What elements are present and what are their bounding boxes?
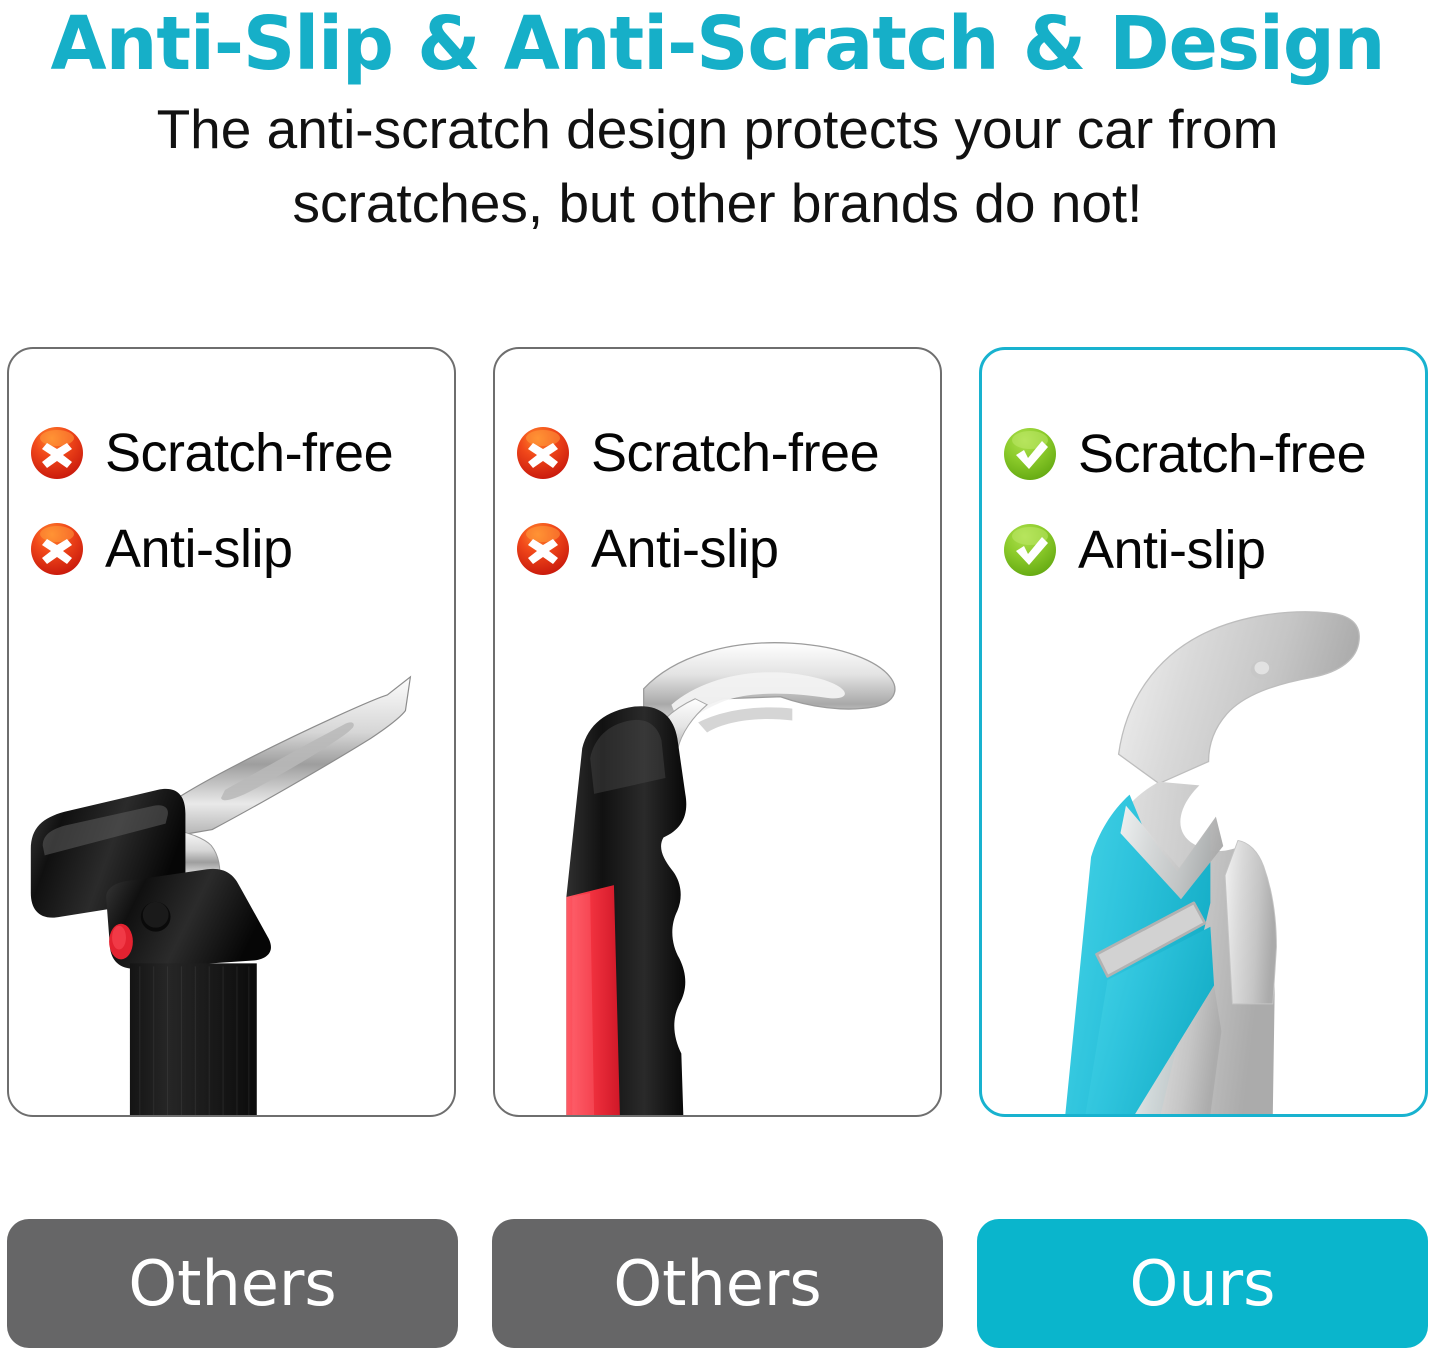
feature-row-scratch-free: Scratch-free — [515, 405, 928, 501]
feature-row-scratch-free: Scratch-free — [1002, 406, 1413, 502]
feature-list: Scratch-free Anti-slip — [29, 405, 442, 597]
feature-label: Anti-slip — [591, 520, 779, 578]
feature-list: Scratch-free Anti-slip — [515, 405, 928, 597]
product-image-gray-teal-safety-hammer — [982, 600, 1425, 1114]
check-circle-icon — [1002, 522, 1058, 578]
cross-circle-icon — [515, 425, 571, 481]
feature-label: Scratch-free — [1078, 425, 1366, 483]
comparison-card-ours[interactable]: Scratch-free Anti-slip — [979, 347, 1428, 1117]
label-button-others-1[interactable]: Others — [7, 1219, 458, 1348]
comparison-card-others-1[interactable]: Scratch-free Anti-slip — [7, 347, 456, 1117]
product-image-black-safety-hammer — [9, 599, 454, 1115]
label-button-others-2[interactable]: Others — [492, 1219, 943, 1348]
feature-row-anti-slip: Anti-slip — [1002, 502, 1413, 598]
feature-label: Scratch-free — [105, 424, 393, 482]
feature-row-anti-slip: Anti-slip — [515, 501, 928, 597]
check-circle-icon — [1002, 426, 1058, 482]
cross-circle-icon — [29, 521, 85, 577]
label-button-ours[interactable]: Ours — [977, 1219, 1428, 1348]
page-title: Anti-Slip & Anti-Scratch & Design — [14, 2, 1420, 92]
label-row: Others Others Ours — [0, 1219, 1435, 1348]
page-header: Anti-Slip & Anti-Scratch & Design The an… — [0, 0, 1435, 240]
cross-circle-icon — [29, 425, 85, 481]
feature-row-anti-slip: Anti-slip — [29, 501, 442, 597]
feature-list: Scratch-free Anti-slip — [1002, 406, 1413, 598]
page-subtitle: The anti-scratch design protects your ca… — [53, 92, 1383, 240]
feature-row-scratch-free: Scratch-free — [29, 405, 442, 501]
feature-label: Scratch-free — [591, 424, 879, 482]
comparison-cards: Scratch-free Anti-slip — [0, 347, 1435, 1119]
product-image-black-red-safety-hammer — [495, 599, 940, 1115]
feature-label: Anti-slip — [1078, 521, 1266, 579]
comparison-card-others-2[interactable]: Scratch-free Anti-slip — [493, 347, 942, 1117]
feature-label: Anti-slip — [105, 520, 293, 578]
cross-circle-icon — [515, 521, 571, 577]
